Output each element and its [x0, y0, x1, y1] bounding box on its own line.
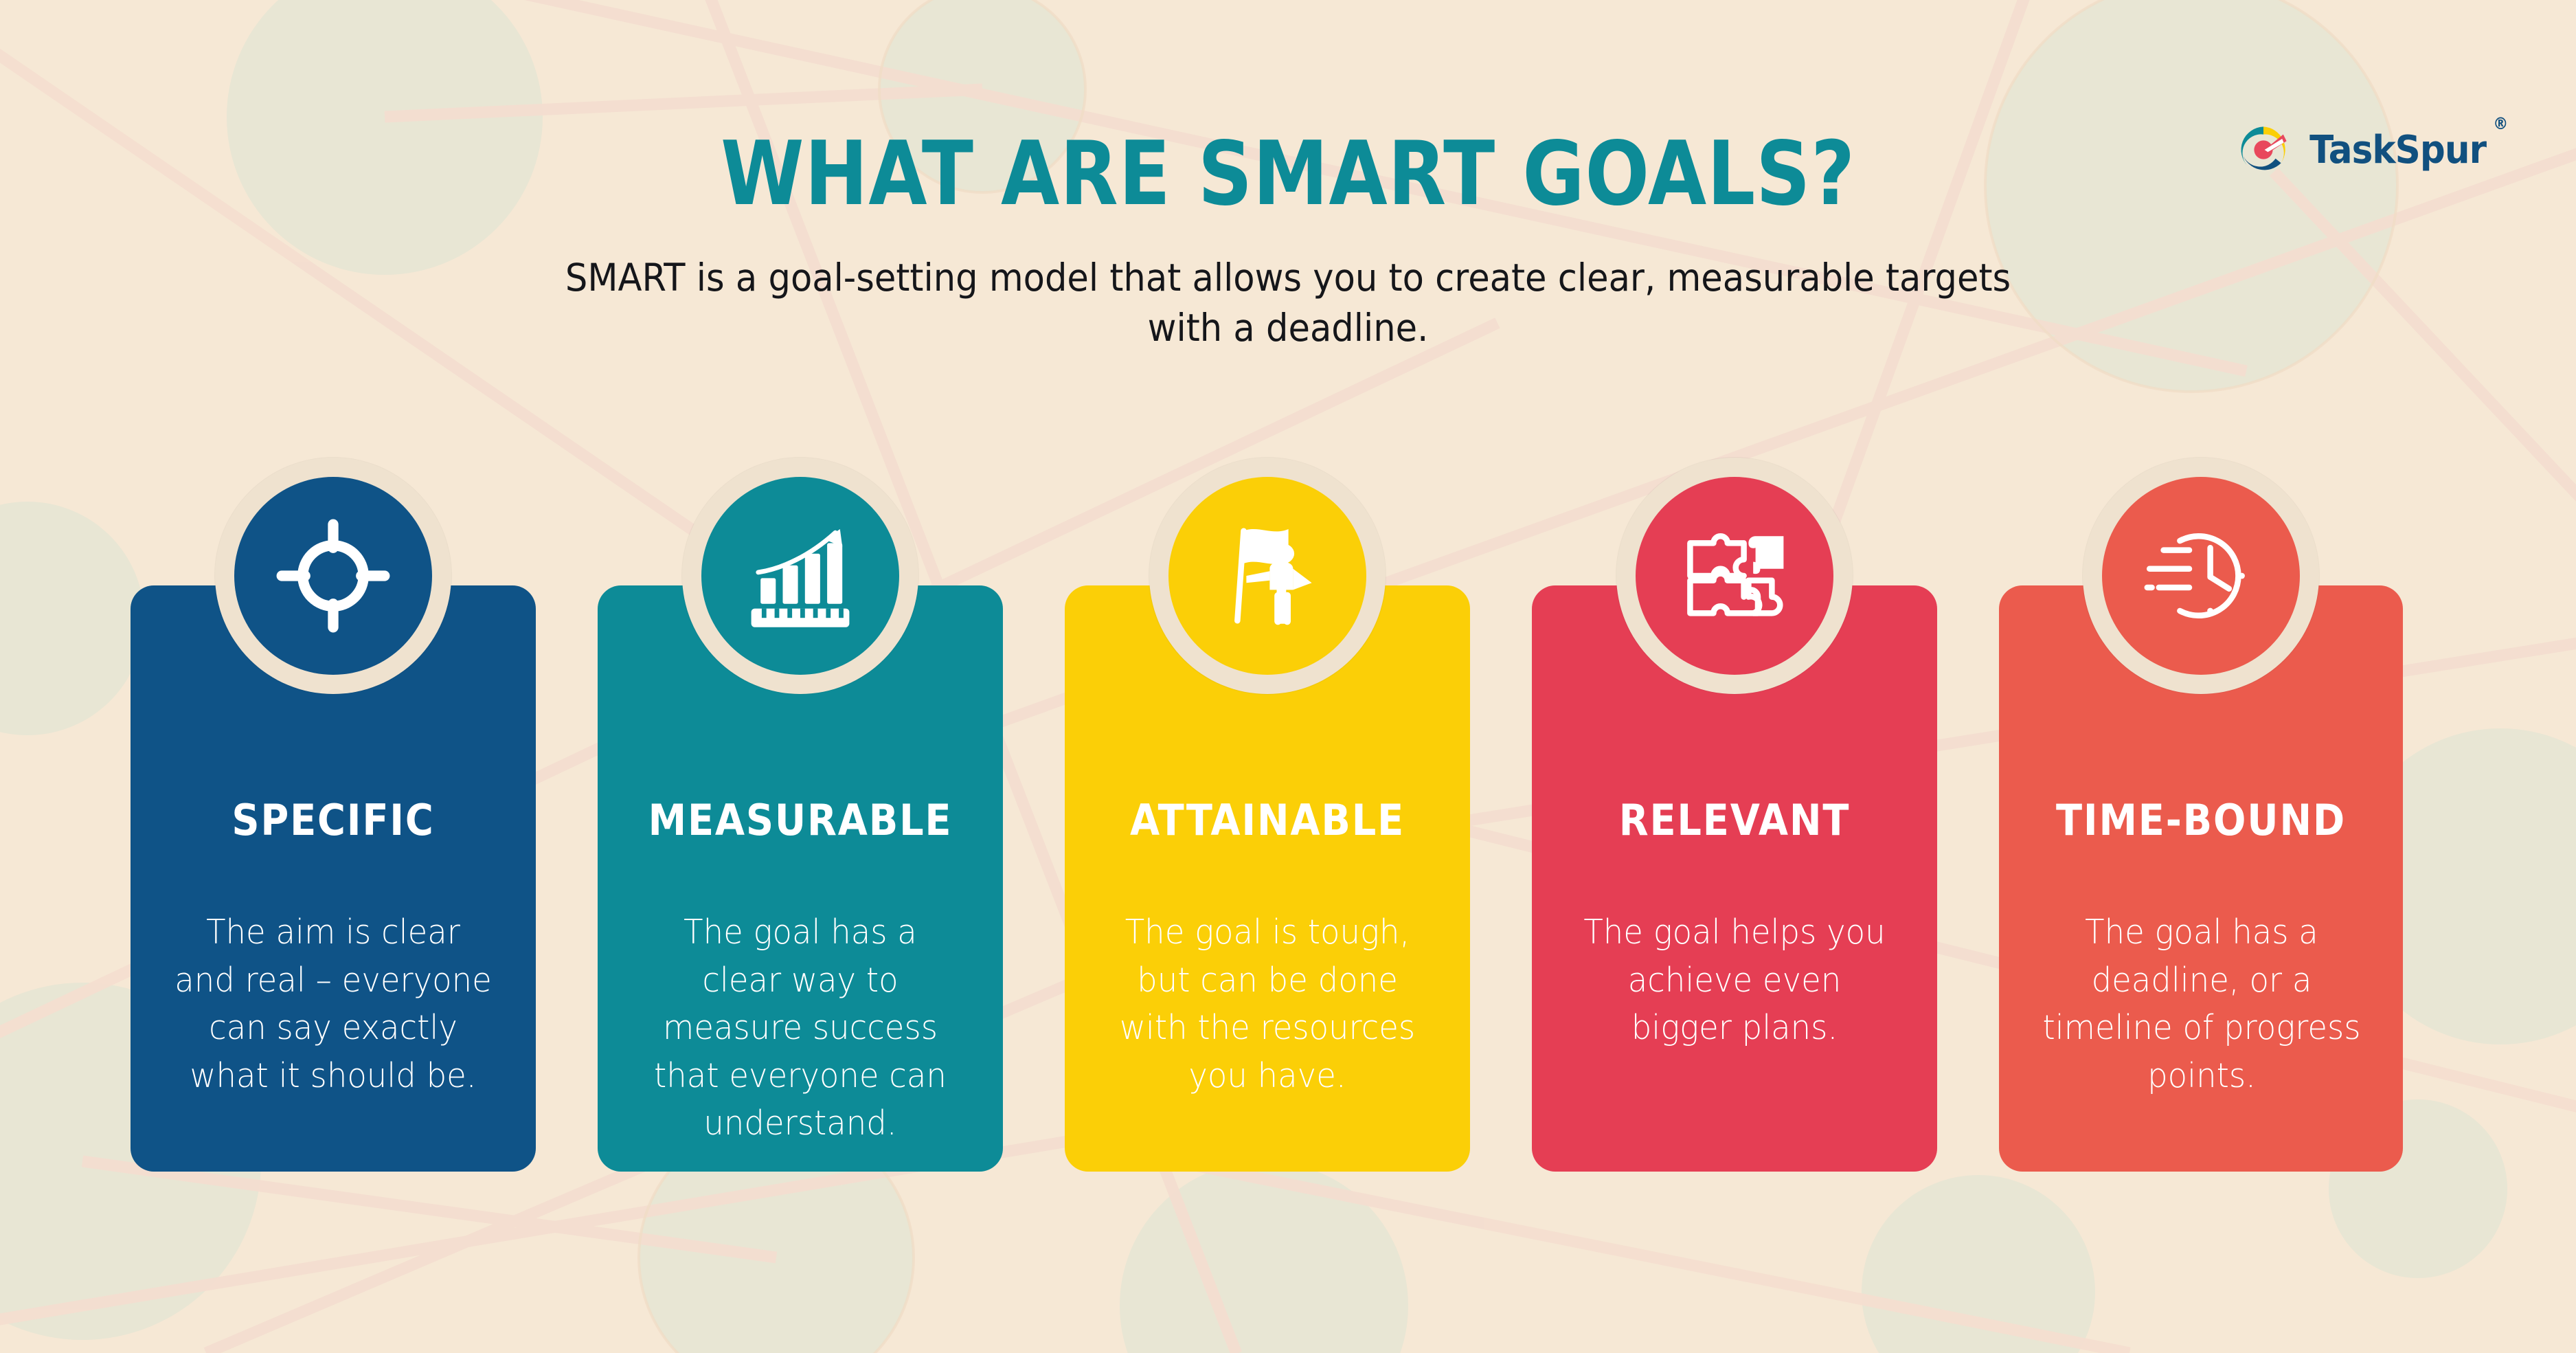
fast-clock-icon [2143, 517, 2259, 634]
card-body: The goal is tough, but can be done with … [1107, 908, 1427, 1099]
card-measurable[interactable]: MEASURABLE The goal has a clear way to m… [598, 585, 1003, 1172]
badge-measurable [682, 458, 918, 694]
card-body: The goal has a deadline, or a timeline o… [2042, 908, 2362, 1099]
card-heading: SPECIFIC [151, 795, 516, 845]
person-with-flag-icon [1209, 517, 1326, 634]
badge-inner-measurable [701, 477, 899, 675]
card-body: The goal has a clear way to measure succ… [640, 908, 960, 1148]
brand-logo[interactable]: TaskSpur ® [2236, 122, 2494, 177]
badge-attainable [1149, 458, 1386, 694]
card-heading: ATTAINABLE [1085, 795, 1450, 845]
card-heading: MEASURABLE [618, 795, 983, 845]
badge-inner-specific [234, 477, 432, 675]
card-time-bound[interactable]: TIME-BOUND The goal has a deadline, or a… [1999, 585, 2403, 1172]
badge-relevant [1616, 458, 1853, 694]
card-specific[interactable]: SPECIFIC The aim is clear and real – eve… [131, 585, 536, 1172]
target-arrow-logo-icon [2236, 122, 2291, 177]
badge-inner-relevant [1636, 477, 1833, 675]
badge-specific [215, 458, 451, 694]
target-crosshair-icon [275, 517, 392, 634]
puzzle-pieces-icon [1676, 517, 1793, 634]
logo-brand-text: TaskSpur [2309, 128, 2486, 172]
bar-chart-growth-ruler-icon [742, 517, 859, 634]
card-relevant[interactable]: RELEVANT The goal helps you achieve even… [1532, 585, 1937, 1172]
page-title: WHAT ARE SMART GOALS? [181, 131, 2396, 219]
card-body: The goal helps you achieve even bigger p… [1574, 908, 1895, 1052]
card-body: The aim is clear and real – everyone can… [173, 908, 493, 1099]
card-heading: TIME-BOUND [2019, 795, 2382, 845]
badge-time-bound [2083, 458, 2319, 694]
logo-trademark: ® [2493, 114, 2507, 133]
logo-wordmark: TaskSpur ® [2309, 128, 2486, 172]
card-heading: RELEVANT [1552, 795, 1917, 845]
page-subtitle: SMART is a goal-setting model that allow… [554, 253, 2023, 353]
card-attainable[interactable]: ATTAINABLE The goal is tough, but can be… [1065, 585, 1470, 1172]
badge-inner-attainable [1168, 477, 1366, 675]
smart-cards-row: SPECIFIC The aim is clear and real – eve… [131, 585, 2404, 1173]
badge-inner-time-bound [2102, 477, 2300, 675]
